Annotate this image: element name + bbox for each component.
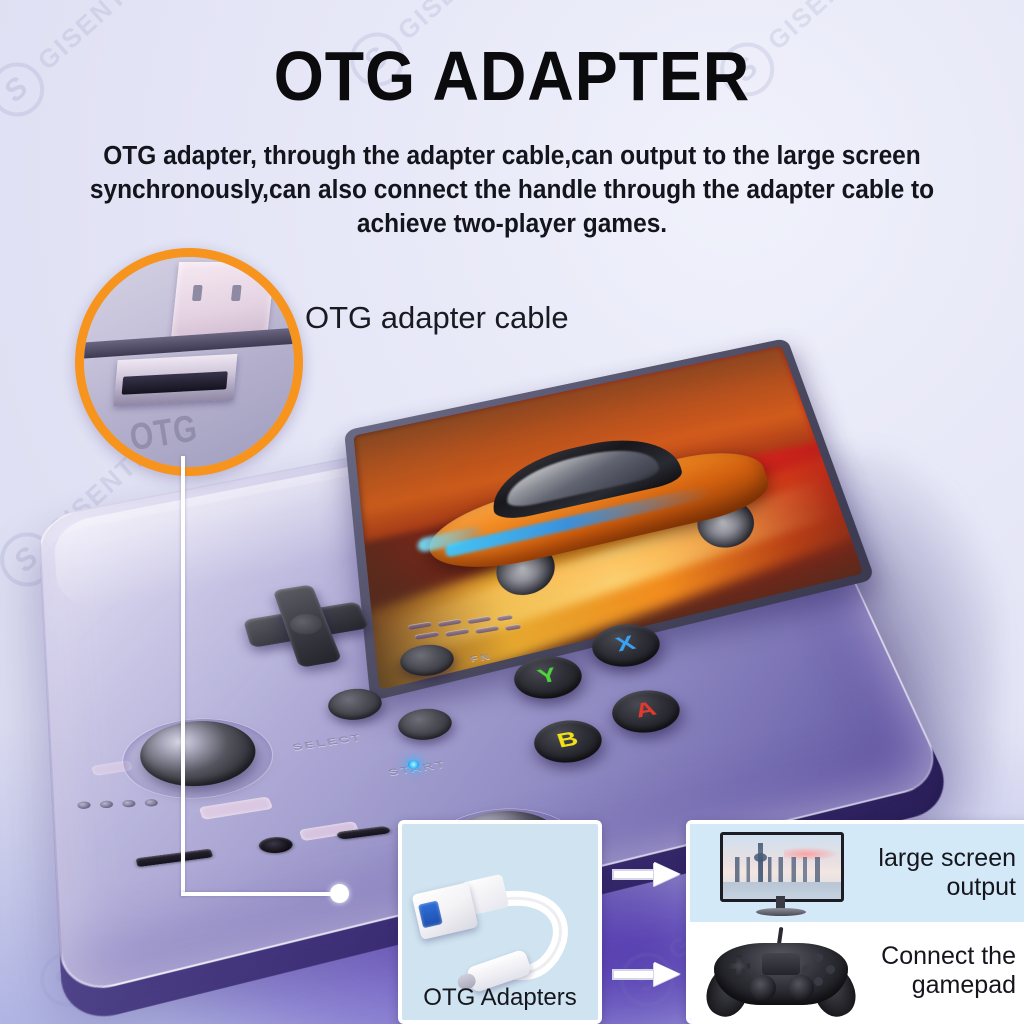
callout-usb-c-port [114, 354, 237, 406]
connect-gamepad-row: Connect the gamepad [690, 922, 1024, 1020]
arrow-to-gamepad [612, 962, 682, 986]
callout-embossed-text: OTG [127, 407, 201, 460]
power-led-indicator [408, 760, 419, 769]
gamepad-stick-right [788, 975, 814, 1001]
otg-panel-label: OTG Adapters [402, 984, 598, 1012]
connect-gamepad-label: Connect the gamepad [856, 942, 1024, 1000]
gamepad-face-button [814, 977, 823, 986]
callout-photo: OTG [75, 248, 303, 476]
hdmi-port [136, 849, 213, 867]
product-infographic: GISENTEC GISENTEC GISENTEC GISENTEC GISE… [0, 0, 1024, 1024]
gamepad-face-button [814, 953, 823, 962]
gamepad-touchpad [762, 953, 800, 975]
zoom-callout-circle: OTG [75, 248, 303, 476]
monitor-screen [720, 832, 844, 902]
leader-line-endpoint-dot [330, 884, 349, 903]
leader-line-vertical [181, 456, 185, 896]
output-options-panel: large screen output Connect the gamepad [686, 820, 1024, 1024]
otg-adapter-panel: OTG Adapters [398, 820, 602, 1024]
leader-line-horizontal [181, 892, 341, 896]
monitor-stand-base [756, 908, 806, 916]
page-description: OTG adapter, through the adapter cable,c… [76, 140, 948, 242]
large-screen-output-row: large screen output [690, 824, 1024, 922]
monitor-icon [706, 830, 856, 916]
monitor-wallpaper-city [723, 857, 841, 883]
gamepad-stick-left [750, 975, 776, 1001]
dpad-center [287, 612, 325, 637]
usb-c-port [335, 826, 392, 840]
callout-usb-connector [171, 262, 275, 340]
headphone-jack-port [256, 835, 296, 855]
page-title: OTG ADAPTER [41, 36, 983, 116]
callout-label: OTG adapter cable [305, 300, 569, 336]
arrow-to-large-screen [612, 862, 682, 886]
gamepad-face-button [826, 965, 835, 974]
gamepad-icon [706, 925, 856, 1017]
large-screen-output-label: large screen output [856, 844, 1024, 902]
gamepad-face-button [802, 965, 811, 974]
